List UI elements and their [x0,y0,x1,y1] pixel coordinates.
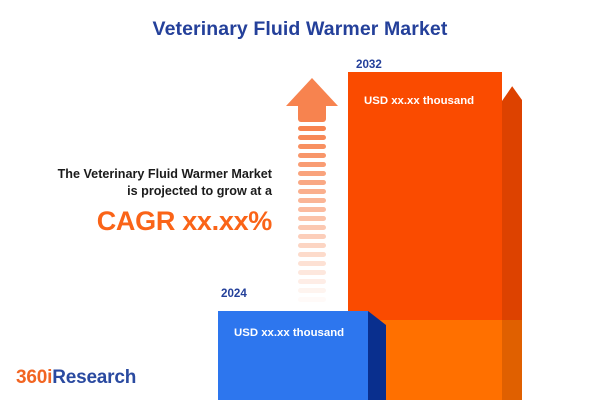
bar-2024-side-face [368,311,386,400]
arrow-shaft-segment [298,162,326,167]
statement-block: The Veterinary Fluid Warmer Market is pr… [14,166,272,237]
bar-2032-value-label: USD xx.xx thousand [364,95,474,107]
arrow-shaft-segment [298,126,326,131]
page-title: Veterinary Fluid Warmer Market [0,18,600,41]
arrow-shaft-segment [298,225,326,230]
arrow-shaft-segment [298,261,326,266]
brand-logo: 360iResearch [16,367,136,389]
arrow-shaft-segment [298,234,326,239]
arrow-shaft-segment [298,153,326,158]
bar-2024-value-label: USD xx.xx thousand [234,327,344,339]
up-arrow-icon [286,78,338,290]
arrow-shaft-segment [298,270,326,275]
arrow-shaft-segment [298,198,326,203]
logo-suffix: Research [52,367,136,388]
arrow-neck-shape [298,105,326,122]
year-label-2032: 2032 [356,58,382,71]
arrow-shaft-segment [298,144,326,149]
cagr-value: CAGR xx.xx% [14,206,272,237]
arrow-shaft-segment [298,207,326,212]
arrow-shaft-segment [298,180,326,185]
bar-2032-front-face [348,72,502,320]
bar-2024-front-face [218,311,368,400]
arrow-head-shape [286,78,338,106]
bar-2032-side-face-lower [502,320,522,400]
arrow-shaft-segment [298,171,326,176]
arrow-shaft-segment [298,252,326,257]
arrow-shaft-segment [298,288,326,293]
arrow-shaft-segment [298,135,326,140]
statement-line-2: is projected to grow at a [14,183,272,200]
arrow-shaft-segment [298,243,326,248]
bar-2032-side-face [502,72,522,320]
logo-prefix: 360i [16,367,52,388]
year-label-2024: 2024 [221,287,247,300]
infographic-canvas: Veterinary Fluid Warmer Market The Veter… [0,0,600,400]
statement-line-1: The Veterinary Fluid Warmer Market [14,166,272,183]
arrow-shaft-segment [298,189,326,194]
arrow-shaft-segment [298,279,326,284]
arrow-shaft-segment [298,216,326,221]
arrow-shaft-segment [298,297,326,302]
